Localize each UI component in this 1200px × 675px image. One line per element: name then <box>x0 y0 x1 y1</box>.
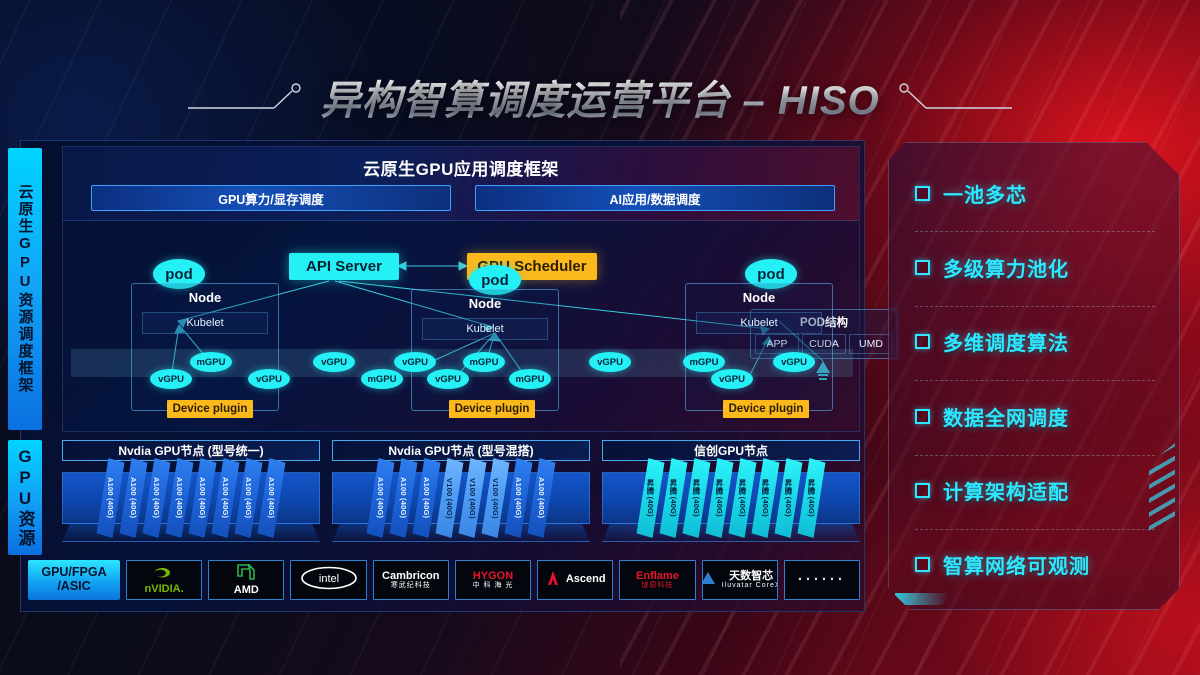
node-title-1: Node <box>132 290 278 305</box>
vgpu-2-2[interactable]: vGPU <box>427 369 469 389</box>
pill-gpu-compute-scheduling[interactable]: GPU算力/显存调度 <box>91 185 451 211</box>
page-title: 异构智算调度运营平台 – HISO <box>320 68 879 126</box>
vendor-iluvatar[interactable]: 天数智芯 Iluvatar CoreX <box>702 560 778 600</box>
gpu-card-label: A100 (40G) <box>198 477 207 518</box>
vendor-logo-row: GPU/FPGA /ASIC nVIDIA. <box>28 560 860 600</box>
gpu-group-nvidia-mixed: Nvdia GPU节点 (型号混搭) A100 (40G)A100 (40G)A… <box>332 440 590 550</box>
feature-label-0: 一池多芯 <box>943 179 1027 208</box>
checkbox-icon <box>915 260 930 275</box>
vendor-intel[interactable]: intel <box>290 560 366 600</box>
vgpu-1-1[interactable]: vGPU <box>150 369 192 389</box>
vendor-enflame-label: Enflame <box>636 571 679 583</box>
vendor-amd-label: AMD <box>234 585 259 597</box>
gpu-group-nvidia-uniform: Nvdia GPU节点 (型号统一) A100 (40G)A100 (40G)A… <box>62 440 320 550</box>
vendor-ascend[interactable]: Ascend <box>537 560 613 600</box>
gpu-card-label: 昇腾 (40G) <box>783 479 794 517</box>
svg-text:intel: intel <box>318 573 338 585</box>
kubelet-2: Kubelet <box>422 318 548 340</box>
feature-label-3: 数据全网调度 <box>943 402 1069 431</box>
vgpu-2-1[interactable]: vGPU <box>394 352 436 372</box>
checkbox-icon <box>915 483 930 498</box>
vendor-iluvatar-label: 天数智芯 <box>729 571 773 583</box>
vendor-iluvatar-sub: Iluvatar CoreX <box>722 582 778 589</box>
gpu-cards-2: 昇腾 (40G)昇腾 (40G)昇腾 (40G)昇腾 (40G)昇腾 (40G)… <box>602 458 860 538</box>
feature-label-5: 智算网络可观测 <box>943 550 1090 579</box>
node-box-3: Node Kubelet <box>685 283 833 411</box>
vendor-nvidia[interactable]: nVIDIA. <box>126 560 202 600</box>
vendor-cambricon-sub: 寒武纪科技 <box>391 582 431 589</box>
gpu-card-label: 昇腾 (40G) <box>737 479 748 517</box>
gpu-card-label: A100 (40G) <box>537 477 546 518</box>
title-right-decoration-icon <box>894 82 1012 112</box>
gpu-card-label: A100 (40G) <box>221 477 230 518</box>
feature-item-4[interactable]: 计算架构适配 <box>915 467 1165 515</box>
vendor-enflame-sub: 燧原科技 <box>641 582 673 589</box>
gpu-cards-0: A100 (40G)A100 (40G)A100 (40G)A100 (40G)… <box>62 458 320 538</box>
mgpu-1-2[interactable]: mGPU <box>361 369 403 389</box>
device-plugin-3[interactable]: Device plugin <box>723 400 809 418</box>
device-plugin-1[interactable]: Device plugin <box>167 400 253 418</box>
vgpu-3-1[interactable]: vGPU <box>711 369 753 389</box>
vendor-ascend-label: Ascend <box>566 574 606 586</box>
gpu-card-label: 昇腾 (40G) <box>691 479 702 517</box>
feature-list: 一池多芯 多级算力池化 多维调度算法 数据全网调度 计算架构适配 智算网络可观测 <box>915 169 1165 589</box>
vgpu-3-2[interactable]: vGPU <box>773 352 815 372</box>
gpu-card-label: A100 (40G) <box>152 477 161 518</box>
gpu-card-label: 昇腾 (40G) <box>806 479 817 517</box>
gpu-card-label: 昇腾 (40G) <box>714 479 725 517</box>
gpu-card-label: A100 (40G) <box>376 477 385 518</box>
vendor-cambricon[interactable]: Cambricon 寒武纪科技 <box>373 560 449 600</box>
gpu-card-label: V100 (40G) <box>445 478 454 519</box>
gpu-resource-groups: Nvdia GPU节点 (型号统一) A100 (40G)A100 (40G)A… <box>62 440 860 550</box>
node-title-3: Node <box>686 290 832 305</box>
vendor-row-tag: GPU/FPGA /ASIC <box>28 560 120 600</box>
gpu-card-label: A100 (40G) <box>267 477 276 518</box>
slide-title-bar: 异构智算调度运营平台 – HISO <box>0 66 1200 128</box>
vendor-tag-line-1: GPU/FPGA <box>41 566 106 580</box>
vendor-hygon-sub: 中 科 海 光 <box>473 582 514 589</box>
gpu-card-label: A100 (40G) <box>106 477 115 518</box>
ellipsis-icon: ······ <box>798 572 846 588</box>
gpu-card-label: A100 (40G) <box>129 477 138 518</box>
kubelet-3: Kubelet <box>696 312 822 334</box>
vendor-amd[interactable]: AMD <box>208 560 284 600</box>
sidebar-label-gpu-resources: GPU资源 <box>8 440 42 555</box>
gpu-card-label: A100 (40G) <box>422 477 431 518</box>
ascend-logo-icon <box>545 570 561 591</box>
gpu-card-label: V100 (40G) <box>468 478 477 519</box>
mgpu-2-2[interactable]: mGPU <box>509 369 551 389</box>
feature-label-4: 计算架构适配 <box>943 476 1069 505</box>
feature-label-2: 多维调度算法 <box>943 327 1069 356</box>
vendor-cambricon-label: Cambricon <box>382 571 439 583</box>
gpu-cards-1: A100 (40G)A100 (40G)A100 (40G)V100 (40G)… <box>332 458 590 538</box>
iluvatar-logo-icon <box>702 570 717 591</box>
api-server-box[interactable]: API Server <box>289 253 399 280</box>
checkbox-icon <box>915 557 930 572</box>
title-left-decoration-icon <box>188 82 306 112</box>
gpu-card-label: A100 (40G) <box>244 477 253 518</box>
vendor-nvidia-label: nVIDIA. <box>145 584 184 596</box>
feature-item-5[interactable]: 智算网络可观测 <box>915 541 1165 589</box>
feature-item-1[interactable]: 多级算力池化 <box>915 243 1165 291</box>
node-box-1: Node Kubelet <box>131 283 279 411</box>
kubelet-1: Kubelet <box>142 312 268 334</box>
slide-canvas: 异构智算调度运营平台 – HISO 云原生GPU资源调度框架 GPU资源 云原生… <box>0 0 1200 675</box>
feature-item-0[interactable]: 一池多芯 <box>915 169 1165 217</box>
feature-highlights-panel: 一池多芯 多级算力池化 多维调度算法 数据全网调度 计算架构适配 智算网络可观测 <box>888 142 1180 610</box>
scheduling-diagram: API Server GPU Scheduler POD结构 APP CUDA … <box>63 221 861 433</box>
gpu-group-xinchuang: 信创GPU节点 昇腾 (40G)昇腾 (40G)昇腾 (40G)昇腾 (40G)… <box>602 440 860 550</box>
pill-ai-data-scheduling[interactable]: AI应用/数据调度 <box>475 185 835 211</box>
vendor-more[interactable]: ······ <box>784 560 860 600</box>
nvidia-logo-icon <box>151 565 177 584</box>
gpu-card-label: 昇腾 (40G) <box>668 479 679 517</box>
framework-header: 云原生GPU应用调度框架 GPU算力/显存调度 AI应用/数据调度 <box>63 147 859 221</box>
amd-logo-icon <box>237 564 255 585</box>
vendor-tag-line-2: /ASIC <box>57 580 90 594</box>
vendor-hygon-label: HYGON <box>473 571 513 583</box>
sidebar-label-framework: 云原生GPU资源调度框架 <box>8 148 42 430</box>
feature-label-1: 多级算力池化 <box>943 253 1069 282</box>
mgpu-2-1[interactable]: mGPU <box>463 352 505 372</box>
feature-item-2[interactable]: 多维调度算法 <box>915 318 1165 366</box>
pod-structure-cell-umd: UMD <box>849 334 893 354</box>
vgpu-2-3[interactable]: vGPU <box>589 352 631 372</box>
gpu-card-label: A100 (40G) <box>514 477 523 518</box>
cloud-native-framework-box: 云原生GPU应用调度框架 GPU算力/显存调度 AI应用/数据调度 <box>62 146 860 432</box>
gpu-card-label: A100 (40G) <box>175 477 184 518</box>
vendor-hygon[interactable]: HYGON 中 科 海 光 <box>455 560 531 600</box>
gpu-card-label: A100 (40G) <box>399 477 408 518</box>
node-box-2: Node Kubelet <box>411 289 559 411</box>
intel-logo-icon: intel <box>300 566 358 595</box>
framework-header-title: 云原生GPU应用调度框架 <box>63 155 859 180</box>
node-title-2: Node <box>412 296 558 311</box>
checkbox-icon <box>915 186 930 201</box>
device-plugin-2[interactable]: Device plugin <box>449 400 535 418</box>
vgpu-1-2[interactable]: vGPU <box>248 369 290 389</box>
feature-item-3[interactable]: 数据全网调度 <box>915 392 1165 440</box>
mgpu-1-1[interactable]: mGPU <box>190 352 232 372</box>
gpu-card-label: 昇腾 (40G) <box>760 479 771 517</box>
checkbox-icon <box>915 409 930 424</box>
gpu-card-label: V100 (40G) <box>491 478 500 519</box>
vgpu-1-3[interactable]: vGPU <box>313 352 355 372</box>
vendor-enflame[interactable]: Enflame 燧原科技 <box>619 560 695 600</box>
checkbox-icon <box>915 334 930 349</box>
mgpu-3-1[interactable]: mGPU <box>683 352 725 372</box>
gpu-card-label: 昇腾 (40G) <box>645 479 656 517</box>
panel-corner-accent-icon <box>895 593 949 605</box>
